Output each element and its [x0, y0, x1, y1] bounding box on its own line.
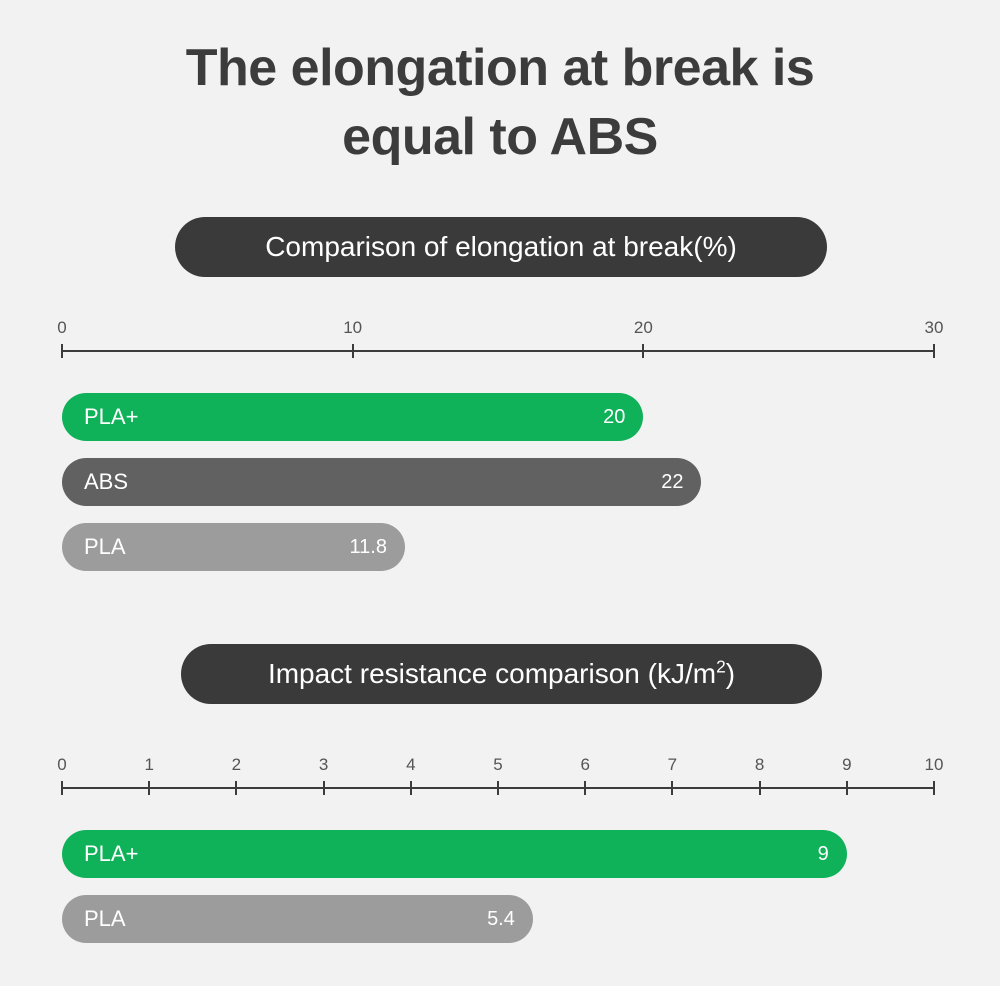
- axis-tick-label: 5: [493, 755, 502, 775]
- axis-tick: [352, 344, 354, 358]
- axis-tick-label: 0: [57, 318, 66, 338]
- bar-value-label: 11.8: [350, 536, 387, 559]
- bar-category-label: PLA+: [84, 841, 138, 867]
- axis-tick-label: 3: [319, 755, 328, 775]
- axis-tick: [584, 781, 586, 795]
- axis-impact: 012345678910: [62, 755, 934, 801]
- bar-category-label: PLA+: [84, 404, 138, 430]
- bar-pla-plus: PLA+9: [62, 830, 847, 878]
- bar-row: PLA+20: [62, 393, 934, 441]
- bar-chart-elongation: PLA+20ABS22PLA11.8: [62, 393, 934, 588]
- axis-tick: [846, 781, 848, 795]
- bar-category-label: PLA: [84, 534, 126, 560]
- axis-tick-label: 20: [634, 318, 653, 338]
- bar-pla: PLA11.8: [62, 523, 405, 571]
- bar-value-label: 20: [603, 406, 625, 429]
- page-title-line-2: equal to ABS: [0, 103, 1000, 172]
- section-title-impact: Impact resistance comparison (kJ/m2): [181, 644, 822, 704]
- bar-abs: ABS22: [62, 458, 701, 506]
- axis-tick-label: 9: [842, 755, 851, 775]
- axis-tick-label: 2: [232, 755, 241, 775]
- bar-row: ABS22: [62, 458, 934, 506]
- axis-tick: [642, 344, 644, 358]
- bar-row: PLA11.8: [62, 523, 934, 571]
- axis-tick: [497, 781, 499, 795]
- bar-pla: PLA5.4: [62, 895, 533, 943]
- axis-tick: [148, 781, 150, 795]
- section-title-impact-prefix: Impact resistance comparison (kJ/m: [268, 658, 716, 689]
- bar-value-label: 9: [818, 843, 829, 866]
- section-title-impact-superscript: 2: [716, 657, 726, 677]
- axis-tick-label: 30: [925, 318, 944, 338]
- axis-elongation: 0102030: [62, 318, 934, 364]
- bar-value-label: 5.4: [487, 908, 515, 931]
- axis-tick: [933, 781, 935, 795]
- axis-tick: [235, 781, 237, 795]
- infographic-page: The elongation at break is equal to ABS …: [0, 0, 1000, 986]
- axis-tick-label: 0: [57, 755, 66, 775]
- bar-pla-plus: PLA+20: [62, 393, 643, 441]
- axis-tick: [933, 344, 935, 358]
- axis-tick: [671, 781, 673, 795]
- bar-value-label: 22: [661, 471, 683, 494]
- axis-tick-label: 7: [668, 755, 677, 775]
- axis-tick: [61, 781, 63, 795]
- axis-tick-label: 10: [343, 318, 362, 338]
- section-title-elongation-label: Comparison of elongation at break(%): [265, 231, 737, 263]
- section-title-impact-label: Impact resistance comparison (kJ/m2): [268, 658, 735, 690]
- bar-row: PLA5.4: [62, 895, 934, 943]
- axis-tick: [410, 781, 412, 795]
- bar-category-label: ABS: [84, 469, 128, 495]
- axis-line-elongation: [62, 350, 934, 352]
- page-title-line-1: The elongation at break is: [0, 34, 1000, 103]
- axis-tick: [759, 781, 761, 795]
- axis-tick-label: 10: [925, 755, 944, 775]
- bar-row: PLA+9: [62, 830, 934, 878]
- bar-chart-impact: PLA+9PLA5.4: [62, 830, 934, 960]
- bar-category-label: PLA: [84, 906, 126, 932]
- axis-tick-label: 8: [755, 755, 764, 775]
- axis-tick: [323, 781, 325, 795]
- section-title-impact-suffix: ): [726, 658, 735, 689]
- section-title-elongation: Comparison of elongation at break(%): [175, 217, 827, 277]
- axis-tick: [61, 344, 63, 358]
- axis-tick-label: 4: [406, 755, 415, 775]
- axis-tick-label: 1: [144, 755, 153, 775]
- axis-tick-label: 6: [580, 755, 589, 775]
- page-title: The elongation at break is equal to ABS: [0, 34, 1000, 172]
